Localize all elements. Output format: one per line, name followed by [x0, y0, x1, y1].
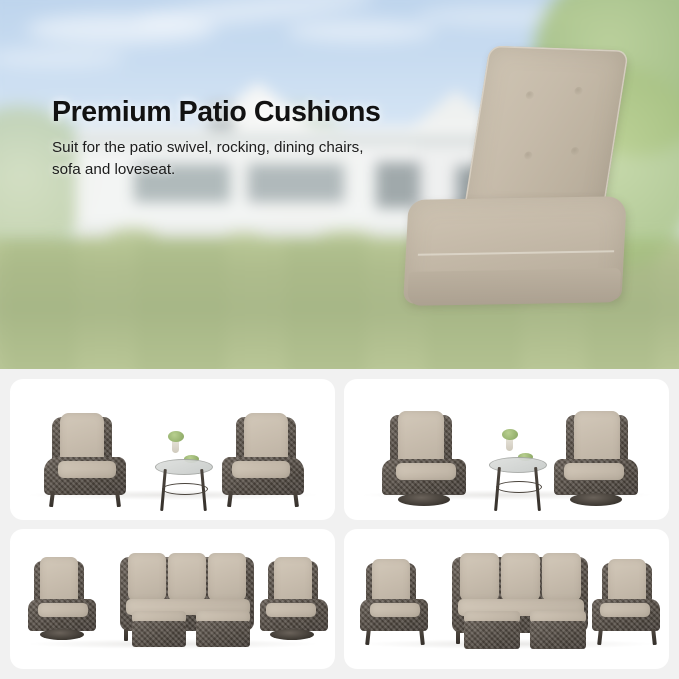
chair-seat-cushion — [38, 603, 88, 617]
swivel-base — [398, 493, 450, 506]
swivel-base — [40, 629, 84, 640]
cushion-back-piece — [463, 46, 629, 219]
hero-subtitle: Suit for the patio swivel, rocking, dini… — [52, 137, 382, 180]
table-plant — [168, 431, 184, 442]
card-3-scene — [10, 529, 335, 670]
product-card-4[interactable] — [344, 529, 669, 670]
ottoman-frame — [132, 621, 186, 647]
chair-leg — [419, 628, 425, 644]
hero-banner: Premium Patio Cushions Suit for the pati… — [0, 0, 679, 369]
table-ring — [162, 483, 208, 495]
card-4-scene — [344, 529, 669, 670]
hero-text-block: Premium Patio Cushions Suit for the pati… — [52, 96, 432, 180]
chair-seat-cushion — [232, 461, 290, 478]
sofa-back-cushion — [542, 553, 581, 601]
product-variant-grid — [0, 369, 679, 679]
table-ring — [496, 481, 542, 493]
product-detail-image: Premium Patio Cushions Suit for the pati… — [0, 0, 679, 679]
sofa-back-cushion — [460, 553, 499, 601]
product-card-3[interactable] — [10, 529, 335, 670]
ottoman-frame — [530, 621, 586, 649]
chair-seat-cushion — [600, 603, 650, 617]
card-2-scene — [344, 379, 669, 520]
product-card-2[interactable] — [344, 379, 669, 520]
chair-seat-cushion — [266, 603, 316, 617]
sofa-leg — [124, 629, 128, 641]
hero-title: Premium Patio Cushions — [52, 96, 432, 129]
card-1-scene — [10, 379, 335, 520]
chair-seat-cushion — [396, 463, 456, 480]
cushion-piping — [463, 46, 629, 219]
ottoman-frame — [196, 621, 250, 647]
ottoman-frame — [464, 621, 520, 649]
hero-cushion-product — [394, 48, 644, 318]
table-plant — [502, 429, 518, 440]
chair-seat-cushion — [564, 463, 624, 480]
chair-seat-cushion — [58, 461, 116, 478]
chair-seat-cushion — [370, 603, 420, 617]
sofa-leg — [456, 631, 460, 644]
product-card-1[interactable] — [10, 379, 335, 520]
cushion-seat-front — [407, 268, 621, 306]
sofa-back-cushion — [208, 553, 246, 601]
chair-leg — [651, 628, 657, 644]
swivel-base — [270, 629, 314, 640]
sofa-back-cushion — [501, 553, 540, 601]
swivel-base — [570, 493, 622, 506]
cloud — [286, 20, 436, 42]
sofa-back-cushion — [168, 553, 206, 601]
sofa-back-cushion — [128, 553, 166, 601]
